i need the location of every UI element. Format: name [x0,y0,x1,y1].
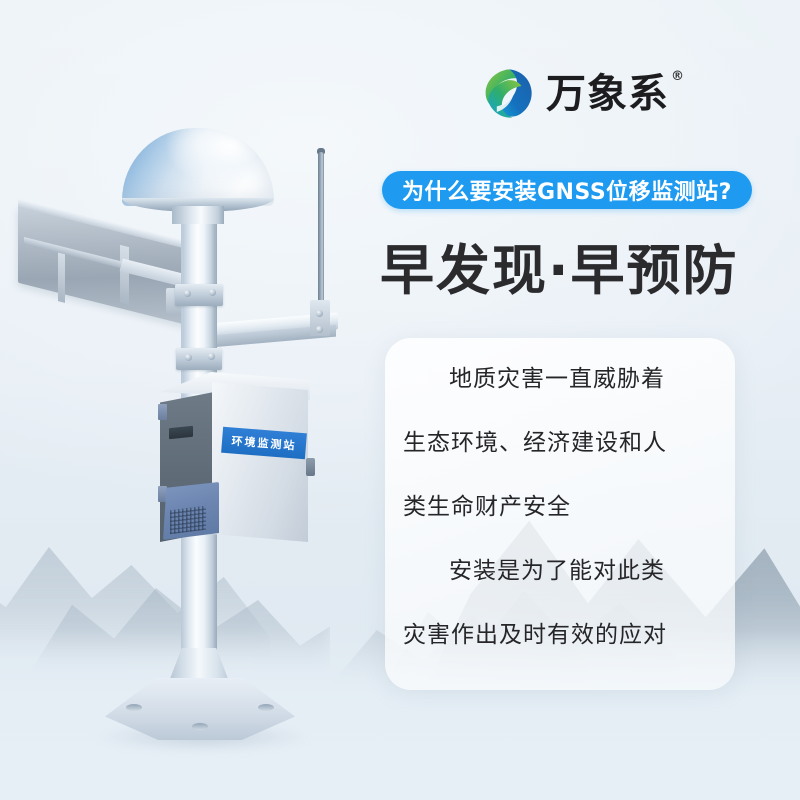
pole-clamp [175,284,223,306]
info-line: 灾害作出及时有效的应对 [403,624,717,647]
question-banner: 为什么要安装GNSS位移监测站? [382,171,752,209]
swirl-globe-icon [480,66,536,122]
brand-name-text: 万象系 [546,71,669,117]
solar-panel-rib [58,251,65,303]
brand-name: 万象系 ® [546,74,669,114]
registered-mark: ® [671,70,685,83]
gnss-radome-icon [122,128,274,206]
enclosure-front-face [212,382,308,542]
page-title: 早发现·早预防 [380,226,739,305]
pole-clamp-bolt [208,353,215,360]
whip-antenna-icon [318,152,324,318]
info-line: 生态环境、经济建设和人 [403,432,717,455]
base-bolt-hole [258,704,274,711]
question-banner-text: 为什么要安装GNSS位移监测站? [402,174,732,206]
promo-poster: 环境监测站 [0,0,800,800]
info-card: 地质灾害一直威胁着 生态环境、经济建设和人 类生命财产安全 安装是为了能对此类 … [385,338,735,690]
base-bolt-hole [126,704,142,711]
monitoring-station-illustration: 环境监测站 [0,0,400,800]
info-line: 地质灾害一直威胁着 [403,368,717,391]
enclosure-latch-icon[interactable] [306,458,315,476]
cross-arm-bolt [316,310,323,317]
pole-clamp [176,348,222,370]
pole-clamp-bolt [185,354,192,361]
cabinet-label-text: 环境监测站 [231,432,297,453]
solar-panel-rib [120,245,129,305]
pole-clamp-bolt [209,289,216,296]
brand-logo[interactable]: 万象系 ® [480,66,669,122]
info-line: 类生命财产安全 [403,496,717,519]
enclosure-hinge [158,404,167,420]
pole-clamp-bolt [184,290,191,297]
enclosure-grille-icon [170,506,206,534]
info-line: 安装是为了能对此类 [403,560,717,583]
base-bolt-hole [192,723,208,730]
gnss-radome-neck [172,206,224,224]
cross-arm-bolt [316,326,323,333]
